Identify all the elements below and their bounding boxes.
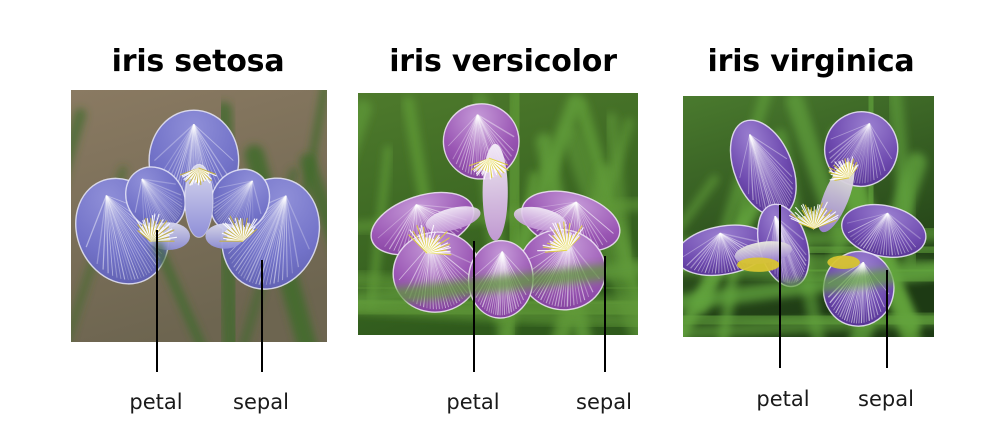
panel-iris-virginica: iris virginicapetalsepal: [0, 0, 1000, 447]
panel-title-iris-virginica: iris virginica: [561, 44, 1000, 79]
annotation-label-sepal-iris-virginica: sepal: [816, 387, 956, 411]
iris-species-figure: iris setosapetalsepaliris versicolorpeta…: [0, 0, 1000, 447]
leader-line-petal-iris-virginica: [779, 205, 781, 368]
leader-line-sepal-iris-virginica: [886, 270, 888, 368]
flower-photo-iris-virginica: [683, 96, 934, 337]
